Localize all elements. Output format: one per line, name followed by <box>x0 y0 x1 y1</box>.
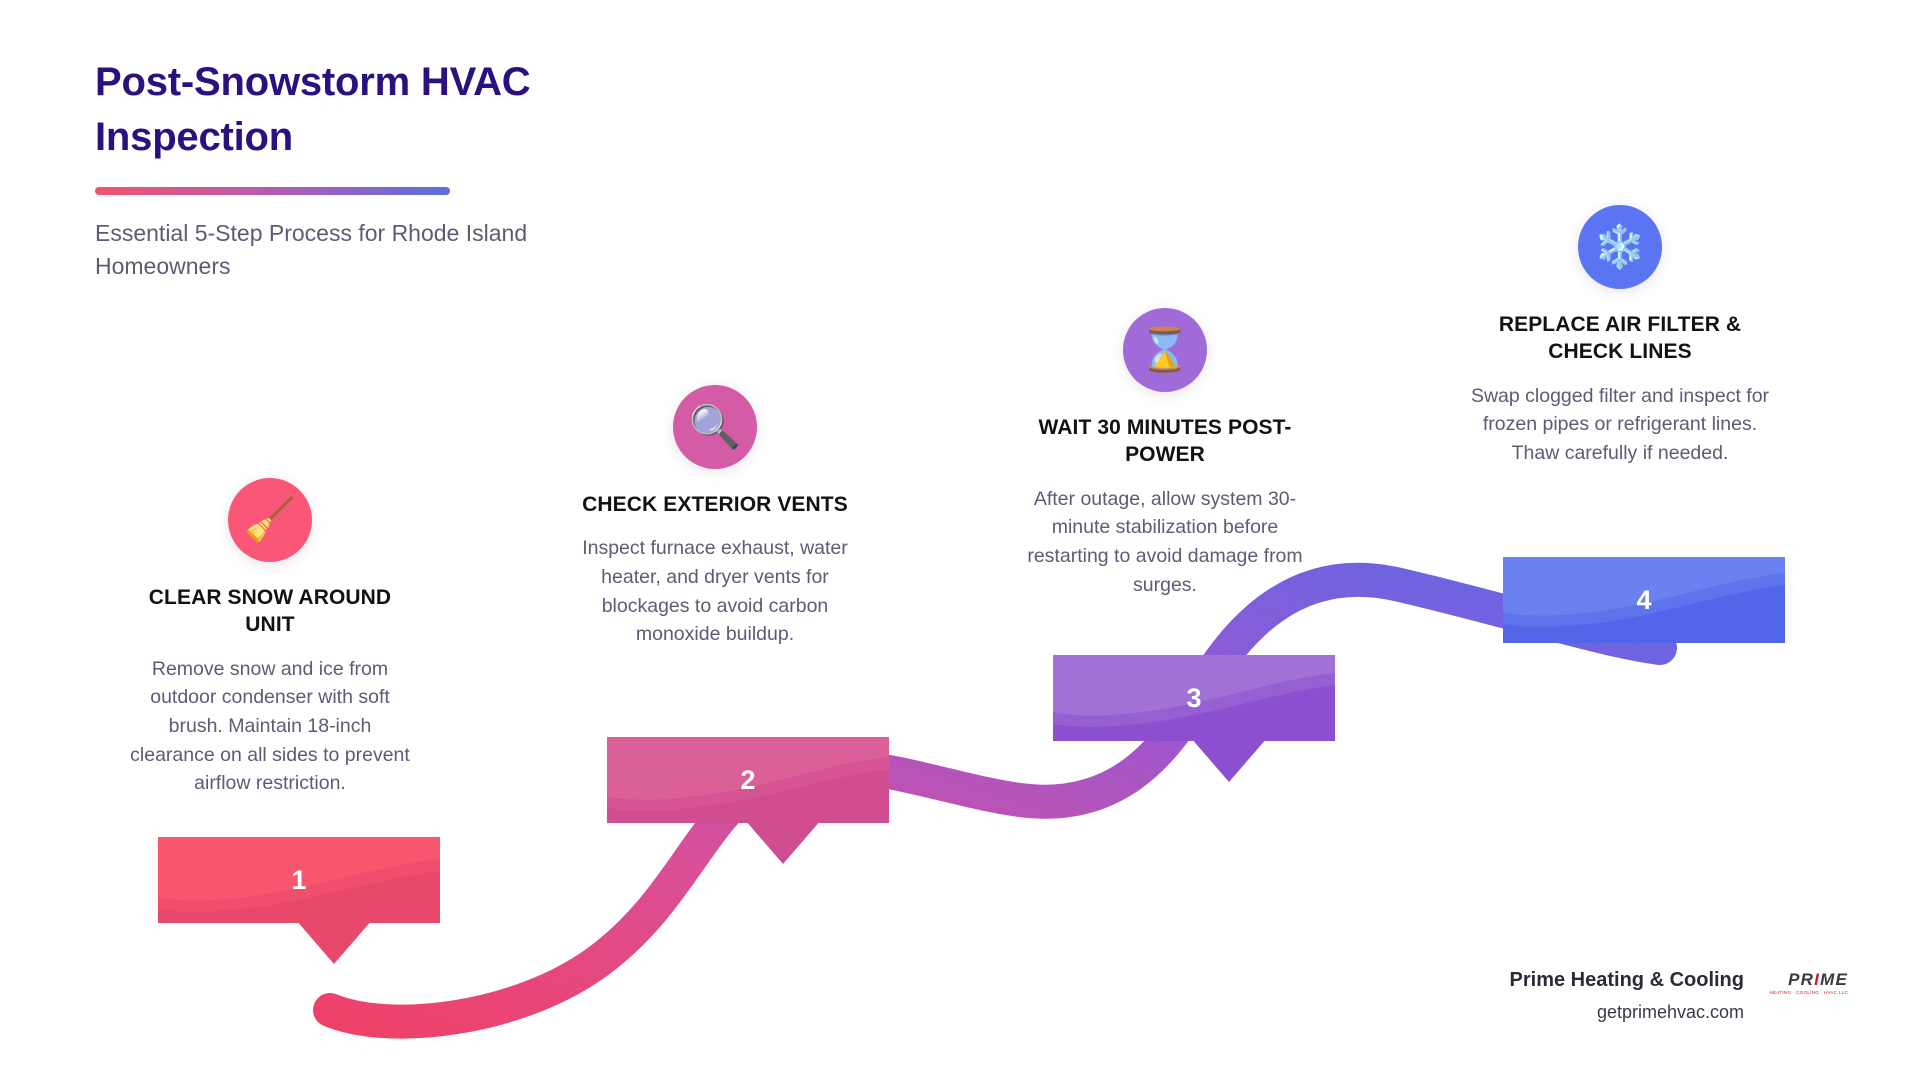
title-underline-rule <box>95 187 450 195</box>
prime-logo-wordmark: PRIME <box>1762 971 1848 988</box>
broom-icon-glyph: 🧹 <box>244 499 296 541</box>
footer-branding: Prime Heating & Cooling getprimehvac.com… <box>1510 967 1848 1025</box>
prime-logo: PRIME HEATING · COOLING · HVAC LLC <box>1762 971 1848 1005</box>
magnifying-glass-icon: 🔍 <box>673 385 757 469</box>
broom-icon: 🧹 <box>228 478 312 562</box>
step-1: 🧹 CLEAR SNOW AROUND UNIT Remove snow and… <box>125 478 415 798</box>
step-1-number-bar: 1 <box>158 837 440 923</box>
step-1-heading: CLEAR SNOW AROUND UNIT <box>125 584 415 639</box>
step-2-heading: CHECK EXTERIOR VENTS <box>565 491 865 518</box>
header-block: Post-Snowstorm HVAC Inspection Essential… <box>95 55 635 283</box>
infographic-canvas: Post-Snowstorm HVAC Inspection Essential… <box>0 0 1920 1080</box>
brand-website[interactable]: getprimehvac.com <box>1510 1000 1744 1025</box>
step-1-number: 1 <box>158 837 440 923</box>
hourglass-icon-glyph: ⌛ <box>1139 329 1191 371</box>
step-1-description: Remove snow and ice from outdoor condens… <box>125 655 415 798</box>
step-2-description: Inspect furnace exhaust, water heater, a… <box>565 534 865 649</box>
step-3: ⌛ WAIT 30 MINUTES POST-POWER After outag… <box>1020 308 1310 599</box>
step-4-number: 4 <box>1503 557 1785 643</box>
step-4-description: Swap clogged filter and inspect for froz… <box>1470 382 1770 468</box>
step-3-number-bar: 3 <box>1053 655 1335 741</box>
step-4: ❄️ REPLACE AIR FILTER & CHECK LINES Swap… <box>1470 205 1770 468</box>
step-3-number: 3 <box>1053 655 1335 741</box>
logo-word-right: ME <box>1820 970 1848 989</box>
page-subtitle: Essential 5-Step Process for Rhode Islan… <box>95 217 635 282</box>
hourglass-icon: ⌛ <box>1123 308 1207 392</box>
logo-word-left: PR <box>1788 970 1814 989</box>
snowflake-icon: ❄️ <box>1578 205 1662 289</box>
step-2-number: 2 <box>607 737 889 823</box>
prime-logo-tagline: HEATING · COOLING · HVAC LLC <box>1762 990 1848 995</box>
footer-text-block: Prime Heating & Cooling getprimehvac.com <box>1510 967 1744 1025</box>
step-4-heading: REPLACE AIR FILTER & CHECK LINES <box>1470 311 1770 366</box>
step-3-description: After outage, allow system 30-minute sta… <box>1020 485 1310 600</box>
step-4-number-bar: 4 <box>1503 557 1785 643</box>
step-3-heading: WAIT 30 MINUTES POST-POWER <box>1020 414 1310 469</box>
step-2-number-bar: 2 <box>607 737 889 823</box>
snowflake-icon-glyph: ❄️ <box>1594 226 1646 268</box>
step-2: 🔍 CHECK EXTERIOR VENTS Inspect furnace e… <box>565 385 865 649</box>
page-title: Post-Snowstorm HVAC Inspection <box>95 55 635 165</box>
brand-name: Prime Heating & Cooling <box>1510 967 1744 993</box>
magnifying-glass-icon-glyph: 🔍 <box>689 406 741 448</box>
